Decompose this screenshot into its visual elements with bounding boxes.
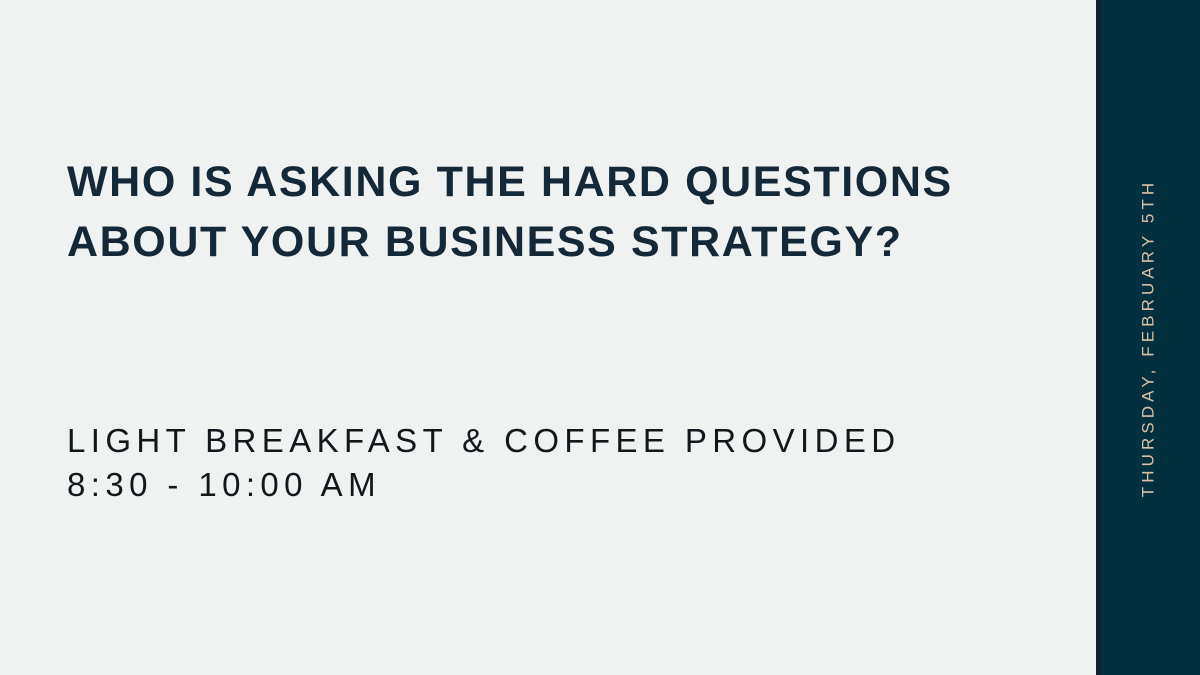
event-detail-line-catering: LIGHT BREAKFAST & COFFEE PROVIDED [67, 419, 1067, 463]
event-details: LIGHT BREAKFAST & COFFEE PROVIDED 8:30 -… [67, 419, 1067, 507]
sidebar-date-container: THURSDAY, FEBRUARY 5TH [1096, 0, 1200, 675]
main-content-area: WHO IS ASKING THE HARD QUESTIONS ABOUT Y… [0, 0, 1096, 675]
event-promo-banner: WHO IS ASKING THE HARD QUESTIONS ABOUT Y… [0, 0, 1200, 675]
date-sidebar: THURSDAY, FEBRUARY 5TH [1096, 0, 1200, 675]
event-date-label: THURSDAY, FEBRUARY 5TH [1138, 178, 1158, 497]
event-detail-line-time: 8:30 - 10:00 AM [67, 463, 1067, 507]
page-title: WHO IS ASKING THE HARD QUESTIONS ABOUT Y… [67, 152, 1057, 272]
